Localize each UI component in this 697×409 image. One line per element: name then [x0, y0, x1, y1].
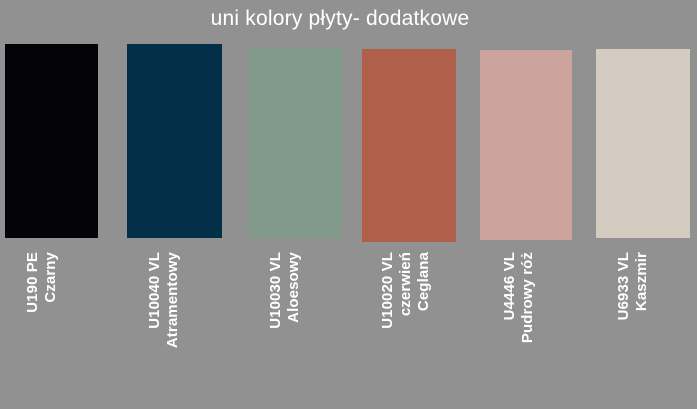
color-chip-pudrowy-r[interactable]	[480, 50, 572, 240]
swatch-caption-kaszmir: KaszmirU6933 VL	[615, 252, 650, 320]
swatch-name-aloesowy: Aloesowy	[285, 252, 302, 323]
swatch-caption-czarny: CzarnyU190 PE	[24, 252, 59, 313]
swatch-code-ceglana-czerwie: U10020 VL	[379, 252, 396, 329]
color-palette-board: uni kolory płyty- dodatkowe CzarnyU190 P…	[0, 0, 697, 409]
swatch-code-aloesowy: U10030 VL	[267, 252, 284, 329]
swatch-code-kaszmir: U6933 VL	[615, 252, 632, 320]
color-chip-czarny[interactable]	[5, 44, 98, 238]
swatch-name-czarny: Czarny	[42, 252, 59, 303]
swatch-code-atramentowy: U10040 VL	[146, 252, 163, 329]
swatch-name-pudrowy-r: Pudrowy róż	[519, 252, 536, 343]
swatch-code-pudrowy-r: U4446 VL	[501, 252, 518, 320]
swatch-name-ceglana-czerwie: czerwień	[397, 252, 414, 316]
swatch-code-czarny: U190 PE	[24, 252, 41, 313]
swatch-caption-ceglana-czerwie: CeglanaczerwieńU10020 VL	[379, 252, 432, 329]
page-title: uni kolory płyty- dodatkowe	[0, 6, 680, 32]
swatch-name-ceglana-czerwie: Ceglana	[415, 252, 432, 311]
color-chip-aloesowy[interactable]	[248, 48, 342, 238]
swatch-caption-atramentowy: AtramentowyU10040 VL	[146, 252, 181, 348]
swatch-name-kaszmir: Kaszmir	[633, 252, 650, 311]
swatch-name-atramentowy: Atramentowy	[164, 252, 181, 348]
color-chip-atramentowy[interactable]	[127, 44, 222, 238]
color-chip-kaszmir[interactable]	[596, 49, 690, 238]
color-chip-ceglana-czerwie[interactable]	[362, 49, 456, 242]
swatch-caption-aloesowy: AloesowyU10030 VL	[267, 252, 302, 329]
swatch-caption-pudrowy-r: Pudrowy różU4446 VL	[501, 252, 536, 343]
